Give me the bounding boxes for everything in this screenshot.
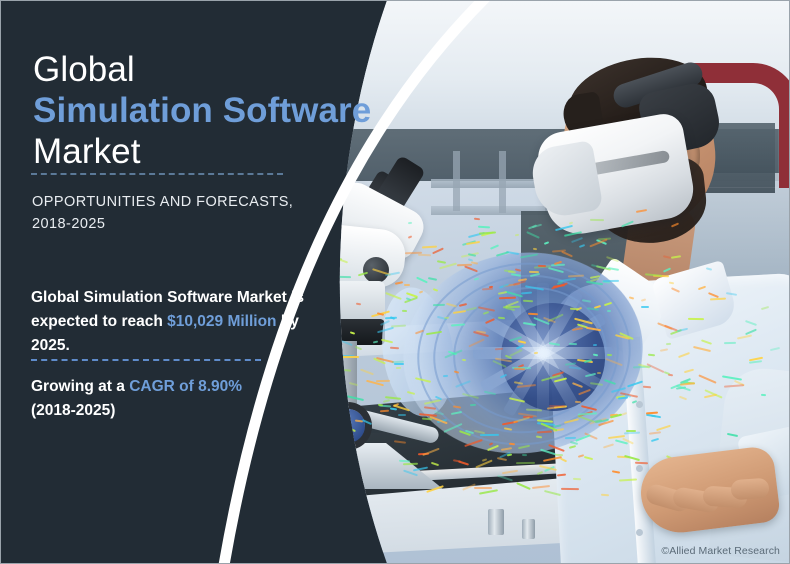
cfd-streak	[532, 485, 550, 489]
cfd-streak	[635, 461, 648, 464]
cfd-streak	[474, 486, 492, 488]
cfd-streak	[515, 234, 520, 237]
cfd-streak	[621, 412, 627, 416]
cfd-streak	[426, 485, 444, 493]
cfd-streak	[404, 284, 410, 286]
cfd-streak	[560, 458, 567, 463]
cfd-streak	[560, 488, 578, 490]
subtitle-line-1: OPPORTUNITIES AND FORECASTS,	[32, 194, 293, 210]
subtitle: OPPORTUNITIES AND FORECASTS, 2018-2025	[32, 191, 332, 235]
cfd-streak	[664, 371, 670, 375]
cfd-streak	[421, 245, 436, 248]
market-value: $10,029 Million	[167, 313, 276, 330]
cfd-streak	[663, 268, 671, 273]
subtitle-line-2: 2018-2025	[32, 216, 105, 232]
market-statement: Global Simulation Software Market is exp…	[31, 286, 331, 358]
cfd-streak	[418, 254, 431, 257]
cfd-streak	[569, 343, 577, 345]
cfd-streak	[601, 493, 609, 496]
cfd-streak	[584, 456, 593, 460]
cfd-streak	[688, 318, 704, 320]
cfd-streak	[684, 369, 694, 374]
cfd-streak	[544, 242, 550, 246]
cfd-streak	[645, 273, 662, 277]
divider-dashed-mid	[31, 359, 261, 361]
cfd-streak	[724, 341, 736, 343]
cfd-streak	[439, 262, 456, 269]
divider-dashed-top	[31, 173, 283, 175]
growth-period: (2018-2025)	[31, 402, 115, 419]
cfd-streak	[443, 374, 448, 376]
cfd-streak	[597, 372, 601, 374]
cfd-streak	[428, 277, 438, 281]
cfd-streak	[453, 459, 462, 463]
cfd-streak	[423, 448, 440, 456]
infographic-banner: Global Simulation Software Market OPPORT…	[0, 0, 790, 564]
cfd-streak	[612, 470, 620, 473]
cfd-streak	[643, 386, 651, 389]
cfd-streak	[403, 463, 418, 466]
cfd-streak	[431, 462, 439, 466]
cfd-streak	[579, 244, 585, 248]
cfd-streak	[669, 281, 675, 284]
metal-cylinder	[522, 519, 535, 539]
cfd-streak	[413, 466, 428, 471]
cfd-streak	[624, 432, 640, 435]
cfd-streak	[603, 444, 614, 449]
cfd-streak	[619, 479, 637, 482]
cfd-streak	[497, 474, 513, 481]
cfd-streak	[432, 247, 443, 254]
cfd-streak	[660, 349, 669, 352]
cfd-streak	[671, 287, 680, 292]
copyright-credit: ©Allied Market Research	[661, 545, 780, 557]
metal-cylinder	[488, 509, 504, 535]
cfd-streak	[416, 276, 428, 283]
cfd-streak	[677, 328, 688, 332]
cfd-streak	[666, 342, 671, 344]
cfd-streak	[497, 457, 507, 461]
cfd-streak	[651, 438, 659, 442]
cfd-streak	[532, 248, 536, 250]
cfd-streak	[403, 470, 418, 477]
page-title: Global Simulation Software Market	[33, 49, 371, 172]
cagr-value: CAGR of 8.90%	[129, 378, 242, 395]
cfd-streak	[569, 445, 576, 449]
cfd-streak	[656, 425, 671, 431]
cfd-streak	[571, 237, 583, 243]
title-line-1: Global	[33, 50, 135, 89]
cfd-streak	[538, 265, 546, 267]
cfd-streak	[408, 222, 412, 224]
finger	[730, 478, 769, 501]
cfd-streak	[602, 280, 618, 282]
cfd-streak	[628, 296, 634, 299]
cfd-streak	[407, 235, 412, 238]
cfd-streak	[564, 231, 582, 237]
cfd-streak	[648, 353, 655, 356]
cfd-streak	[631, 400, 636, 404]
text-panel: Global Simulation Software Market OPPORT…	[1, 1, 401, 564]
growth-prefix: Growing at a	[31, 378, 129, 395]
cfd-streak	[606, 255, 618, 261]
cfd-simulation-hologram	[373, 227, 693, 493]
cfd-streak	[522, 454, 527, 456]
cfd-streak	[662, 255, 670, 259]
cfd-streak	[478, 226, 490, 229]
growth-statement: Growing at a CAGR of 8.90% (2018-2025)	[31, 375, 331, 423]
cfd-streak	[649, 432, 661, 435]
cfd-streak	[537, 471, 543, 475]
cfd-streak	[607, 354, 612, 356]
cfd-streak	[607, 310, 611, 312]
cfd-streak	[490, 244, 499, 249]
cfd-streak	[454, 370, 459, 373]
cfd-streak	[557, 474, 566, 477]
cfd-streak	[657, 322, 672, 330]
cfd-streak	[678, 352, 690, 358]
cfd-streak	[516, 462, 535, 464]
cfd-streak	[641, 306, 649, 308]
cfd-streak	[470, 404, 476, 406]
cfd-streak	[507, 454, 512, 457]
title-line-3: Market	[33, 131, 371, 172]
cfd-streak	[565, 437, 576, 439]
title-line-2: Simulation Software	[33, 90, 371, 131]
cfd-streak	[761, 394, 766, 396]
cfd-streak	[593, 343, 597, 345]
cfd-streak	[573, 478, 581, 480]
cfd-streak	[526, 231, 540, 239]
cfd-streak	[516, 482, 530, 490]
cfd-streak	[641, 298, 647, 301]
cfd-streak	[590, 219, 604, 221]
cfd-streak	[468, 253, 477, 257]
cfd-streak	[437, 260, 446, 264]
cfd-streak	[501, 470, 517, 474]
cfd-streak	[402, 310, 407, 312]
shirt-button	[636, 529, 643, 536]
shelf-post	[499, 151, 506, 213]
cfd-streak	[523, 300, 533, 303]
cfd-streak	[679, 396, 687, 401]
cfd-streak	[671, 255, 681, 258]
